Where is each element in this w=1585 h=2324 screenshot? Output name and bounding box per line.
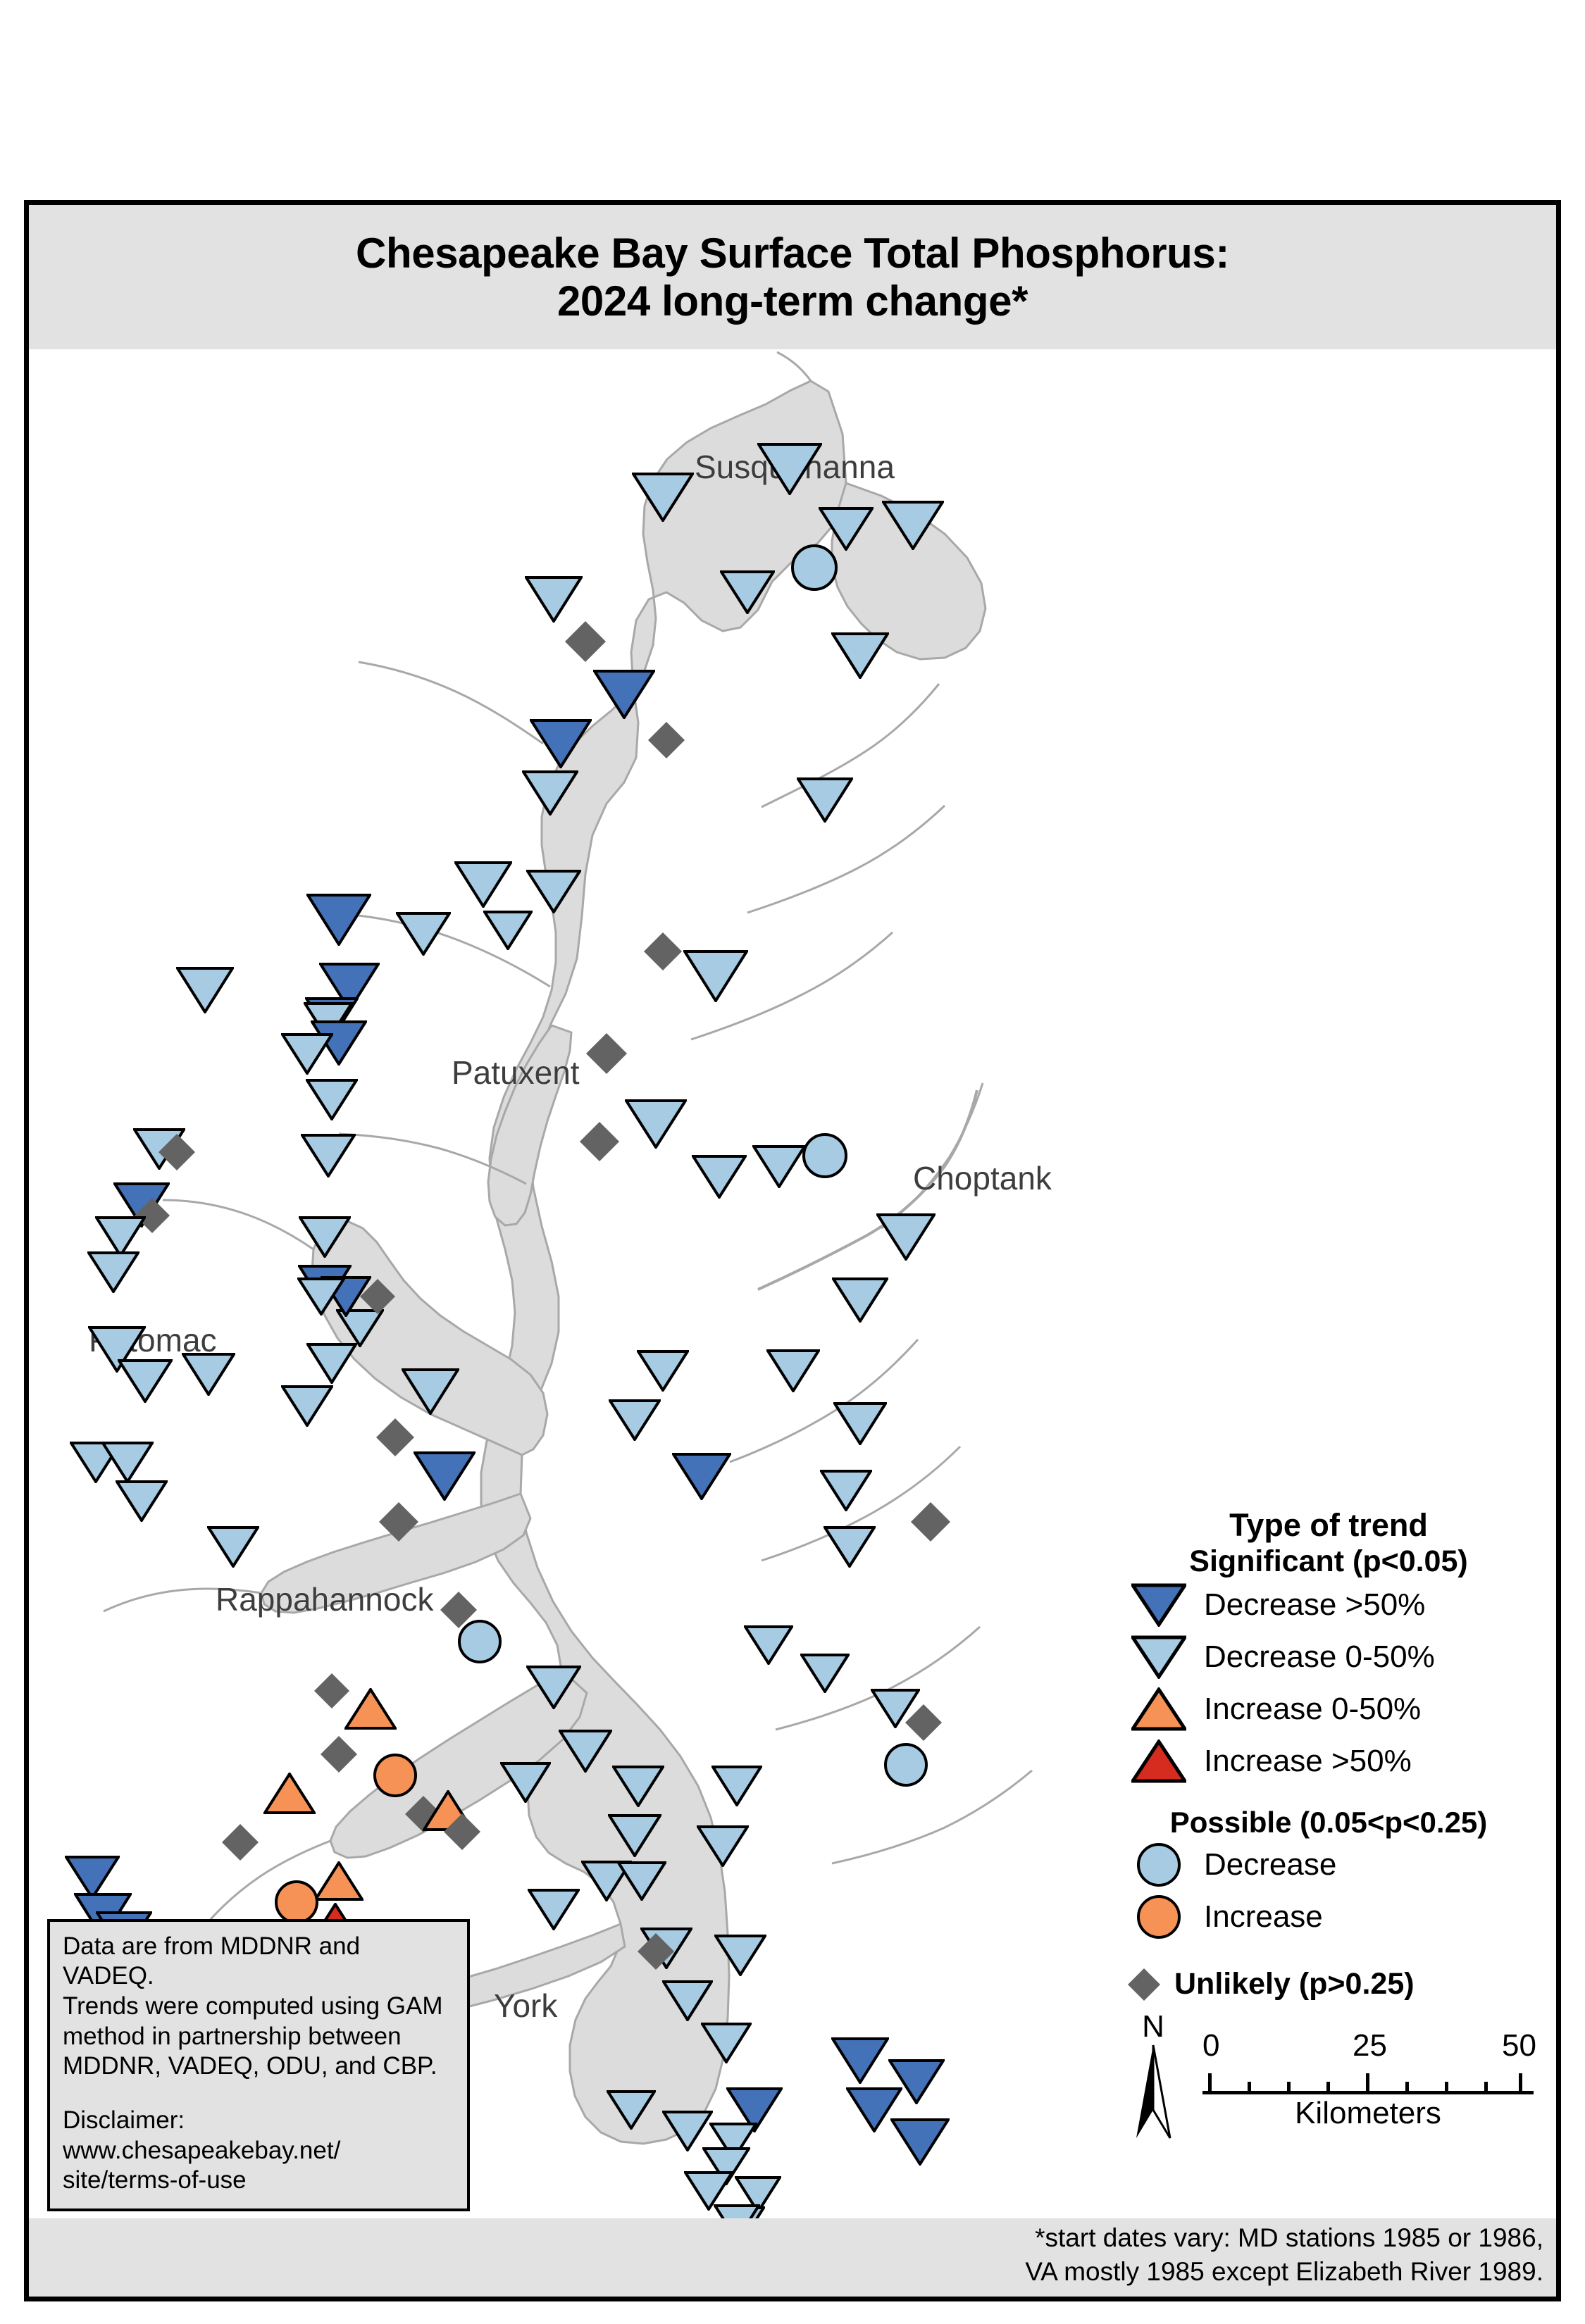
legend-label: Increase — [1204, 1899, 1323, 1935]
marker-decrease-0-50 — [820, 1470, 872, 1511]
marker-unlikely — [565, 621, 606, 662]
north-arrow: N — [1118, 2011, 1188, 2144]
marker-decrease-0-50 — [744, 1625, 793, 1665]
marker-decrease-0-50 — [306, 1079, 358, 1120]
data-source-line-4: MDDNR, VADEQ, ODU, and CBP. — [63, 2051, 456, 2082]
title-line-1: Chesapeake Bay Surface Total Phosphorus: — [356, 230, 1229, 277]
marker-decrease-0-50 — [720, 570, 775, 614]
footnote-line-2: VA mostly 1985 except Elizabeth River 19… — [1025, 2256, 1543, 2287]
marker-decrease-0-50 — [800, 1654, 850, 1693]
scale-bar-line — [1202, 2070, 1534, 2094]
marker-decrease-0-50 — [882, 501, 944, 550]
disclaimer-line-1: Disclaimer: www.chesapeakebay.net/ — [63, 2106, 456, 2166]
disclaimer-line-2: site/terms-of-use — [63, 2166, 456, 2196]
legend-item-decrease-large: Decrease >50% — [1114, 1579, 1543, 1631]
legend-item-possible-decrease: Decrease — [1114, 1839, 1543, 1891]
marker-decrease-over-50 — [414, 1451, 475, 1501]
marker-decrease-0-50 — [711, 1766, 762, 1806]
legend-significant-heading: Significant (p<0.05) — [1114, 1544, 1543, 1578]
data-source-line-3: method in partnership between — [63, 2022, 456, 2052]
legend-item-increase-small: Increase 0-50% — [1114, 1683, 1543, 1735]
marker-decrease-0-50 — [299, 1216, 351, 1258]
marker-possible-increase — [373, 1754, 417, 1797]
marker-unlikely — [644, 932, 682, 970]
marker-decrease-over-50 — [530, 719, 592, 768]
marker-decrease-over-50 — [890, 2118, 950, 2166]
circle-icon — [1114, 1894, 1204, 1940]
marker-decrease-0-50 — [526, 870, 581, 913]
marker-decrease-0-50 — [662, 1980, 713, 2021]
marker-unlikely — [580, 1122, 619, 1161]
north-label: N — [1118, 2011, 1188, 2042]
marker-decrease-over-50 — [831, 2037, 889, 2084]
legend-item-possible-increase: Increase — [1114, 1891, 1543, 1943]
marker-decrease-0-50 — [116, 1480, 168, 1522]
marker-unlikely — [158, 1134, 195, 1170]
marker-decrease-0-50 — [831, 632, 889, 679]
marker-decrease-0-50 — [692, 1155, 747, 1199]
marker-decrease-0-50 — [182, 1353, 235, 1396]
marker-decrease-0-50 — [697, 1825, 749, 1867]
triangle-up-icon — [1114, 1739, 1204, 1783]
map-legend: Type of trend Significant (p<0.05) Decre… — [1114, 1508, 1543, 2002]
marker-decrease-over-50 — [672, 1453, 731, 1500]
data-source-box: Data are from MDDNR and VADEQ. Trends we… — [47, 1919, 470, 2212]
marker-increase-0-50 — [344, 1688, 397, 1730]
marker-unlikely — [314, 1673, 349, 1708]
marker-unlikely — [586, 1033, 627, 1074]
marker-decrease-over-50 — [888, 2059, 945, 2104]
legend-label: Decrease 0-50% — [1204, 1639, 1435, 1675]
scale-and-north: N 0 25 50 — [1118, 2011, 1541, 2159]
marker-increase-0-50 — [314, 1861, 363, 1901]
marker-unlikely — [905, 1704, 942, 1741]
marker-decrease-0-50 — [683, 950, 748, 1002]
marker-possible-decrease — [458, 1620, 502, 1663]
marker-decrease-over-50 — [593, 670, 655, 719]
marker-unlikely — [648, 722, 685, 758]
marker-decrease-over-50 — [306, 894, 371, 946]
map-canvas[interactable]: .land{fill:#dcdcdc;stroke:#a8a8a8;stroke… — [29, 349, 1556, 2297]
marker-decrease-0-50 — [528, 1889, 580, 1930]
marker-decrease-0-50 — [483, 911, 533, 950]
marker-increase-0-50 — [263, 1773, 316, 1814]
marker-possible-decrease — [802, 1133, 847, 1178]
marker-unlikely — [222, 1824, 259, 1861]
marker-decrease-0-50 — [766, 1349, 820, 1392]
marker-decrease-0-50 — [832, 1277, 888, 1323]
marker-decrease-0-50 — [454, 861, 512, 908]
marker-decrease-0-50 — [637, 1350, 689, 1392]
marker-unlikely — [911, 1502, 950, 1542]
marker-decrease-0-50 — [757, 443, 822, 495]
data-source-line-2: Trends were computed using GAM — [63, 1992, 456, 2022]
scale-units-label: Kilometers — [1202, 2096, 1534, 2131]
marker-decrease-0-50 — [522, 770, 578, 816]
marker-decrease-0-50 — [118, 1359, 173, 1403]
marker-decrease-0-50 — [281, 1033, 333, 1075]
scale-bar: 0 25 50 Kilometers — [1202, 2028, 1534, 2131]
marker-decrease-0-50 — [607, 2090, 656, 2130]
marker-unlikely — [321, 1736, 357, 1773]
marker-decrease-0-50 — [559, 1730, 612, 1773]
map-title-band: Chesapeake Bay Surface Total Phosphorus:… — [29, 205, 1556, 349]
legend-label: Increase 0-50% — [1204, 1692, 1421, 1727]
scale-tick-0: 0 — [1202, 2028, 1219, 2063]
scale-tick-50: 50 — [1502, 2028, 1536, 2063]
marker-decrease-0-50 — [609, 1399, 661, 1441]
marker-unlikely — [444, 1813, 480, 1850]
marker-decrease-0-50 — [833, 1402, 887, 1445]
marker-unlikely — [379, 1502, 418, 1542]
legend-item-decrease-small: Decrease 0-50% — [1114, 1631, 1543, 1683]
marker-decrease-0-50 — [396, 912, 451, 956]
legend-possible-heading: Possible (0.05<p<0.25) — [1114, 1806, 1543, 1839]
marker-decrease-0-50 — [612, 1766, 664, 1807]
marker-decrease-0-50 — [297, 1277, 345, 1316]
scale-tick-25: 25 — [1353, 2028, 1387, 2063]
marker-decrease-0-50 — [101, 1442, 154, 1483]
legend-item-unlikely: Unlikely (p>0.25) — [1114, 1967, 1543, 2002]
footnote-band: *start dates vary: MD stations 1985 or 1… — [29, 2218, 1556, 2297]
marker-decrease-0-50 — [625, 1099, 687, 1149]
data-source-line-1: Data are from MDDNR and VADEQ. — [63, 1932, 456, 1992]
marker-decrease-0-50 — [714, 1935, 766, 1976]
marker-decrease-0-50 — [402, 1368, 459, 1415]
marker-decrease-0-50 — [87, 1251, 139, 1293]
north-arrow-icon — [1124, 2042, 1183, 2141]
marker-decrease-0-50 — [876, 1213, 936, 1261]
marker-decrease-0-50 — [301, 1134, 356, 1177]
triangle-down-icon — [1114, 1583, 1204, 1627]
marker-decrease-0-50 — [701, 2023, 752, 2063]
legend-label: Increase >50% — [1204, 1744, 1412, 1779]
legend-title: Type of trend — [1114, 1508, 1543, 1543]
scale-tick-labels: 0 25 50 — [1202, 2028, 1534, 2065]
triangle-down-icon — [1114, 1635, 1204, 1679]
marker-decrease-0-50 — [823, 1526, 876, 1568]
marker-decrease-0-50 — [797, 777, 853, 823]
marker-decrease-0-50 — [617, 1861, 666, 1901]
legend-item-increase-large: Increase >50% — [1114, 1735, 1543, 1787]
triangle-up-icon — [1114, 1687, 1204, 1731]
map-frame: Chesapeake Bay Surface Total Phosphorus:… — [24, 200, 1561, 2301]
marker-decrease-0-50 — [176, 967, 234, 1013]
marker-unlikely — [376, 1418, 414, 1456]
legend-label: Unlikely (p>0.25) — [1174, 1967, 1415, 2001]
footnote-line-1: *start dates vary: MD stations 1985 or 1… — [1035, 2223, 1543, 2254]
marker-decrease-0-50 — [306, 1343, 357, 1384]
marker-decrease-0-50 — [752, 1145, 806, 1188]
marker-possible-decrease — [791, 544, 838, 591]
title-line-2: 2024 long-term change* — [557, 277, 1028, 325]
marker-decrease-0-50 — [632, 473, 694, 522]
circle-icon — [1114, 1842, 1204, 1888]
legend-label: Decrease >50% — [1204, 1587, 1425, 1623]
marker-decrease-0-50 — [662, 2111, 713, 2151]
marker-decrease-0-50 — [608, 1814, 661, 1857]
marker-decrease-0-50 — [281, 1385, 333, 1427]
marker-unlikely — [360, 1279, 395, 1314]
marker-decrease-0-50 — [500, 1762, 551, 1803]
diamond-icon — [1114, 1967, 1174, 2002]
marker-decrease-0-50 — [525, 576, 583, 623]
marker-possible-decrease — [884, 1743, 928, 1787]
marker-decrease-0-50 — [526, 1666, 581, 1709]
legend-label: Decrease — [1204, 1847, 1336, 1882]
marker-decrease-0-50 — [207, 1526, 259, 1568]
marker-unlikely — [638, 1933, 674, 1970]
